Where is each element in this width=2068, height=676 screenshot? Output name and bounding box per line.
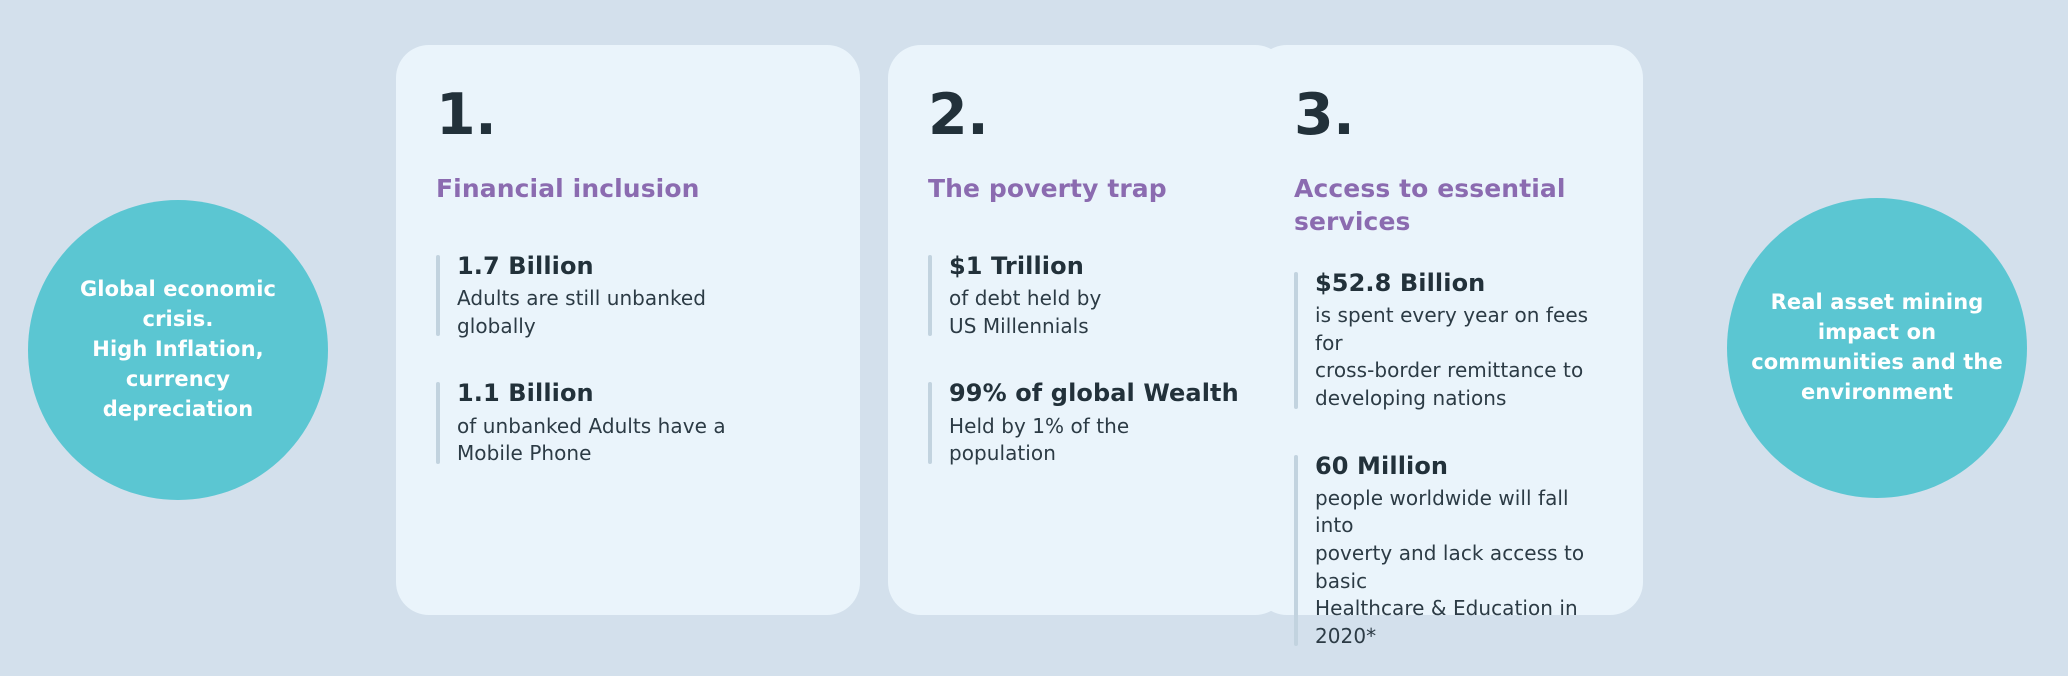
stat-item: $1 Trillion of debt held by US Millennia… — [928, 251, 1248, 340]
stat-description: Held by 1% of the population — [949, 413, 1248, 468]
stat-value: 60 Million — [1315, 451, 1603, 482]
card-1-number: 1. — [436, 87, 820, 144]
card-3-number: 3. — [1294, 87, 1603, 144]
stat-description: of unbanked Adults have a Mobile Phone — [457, 413, 820, 468]
card-financial-inclusion: 1. Financial inclusion 1.7 Billion Adult… — [396, 45, 860, 615]
stat-value: $52.8 Billion — [1315, 268, 1603, 299]
stat-item: 1.7 Billion Adults are still unbanked gl… — [436, 251, 820, 340]
stat-description: Adults are still unbanked globally — [457, 285, 820, 340]
stat-value: 99% of global Wealth — [949, 378, 1248, 409]
card-3-title: Access to essential services — [1294, 172, 1603, 238]
stat-value: 1.1 Billion — [457, 378, 820, 409]
stat-value: $1 Trillion — [949, 251, 1248, 282]
stat-value: 1.7 Billion — [457, 251, 820, 282]
card-2-number: 2. — [928, 87, 1248, 144]
stat-item: 99% of global Wealth Held by 1% of the p… — [928, 378, 1248, 467]
card-1-title: Financial inclusion — [436, 172, 820, 205]
stat-description: of debt held by US Millennials — [949, 285, 1248, 340]
infographic-canvas: Global economic crisis. High Inflation, … — [0, 0, 2068, 676]
stat-description: is spent every year on fees for cross-bo… — [1315, 302, 1603, 412]
card-access-to-essential-services: 3. Access to essential services $52.8 Bi… — [1254, 45, 1643, 615]
circle-left-text: Global economic crisis. High Inflation, … — [58, 275, 298, 424]
card-poverty-trap: 2. The poverty trap $1 Trillion of debt … — [888, 45, 1288, 615]
card-2-title: The poverty trap — [928, 172, 1248, 205]
stat-item: $52.8 Billion is spent every year on fee… — [1294, 268, 1603, 413]
stat-item: 1.1 Billion of unbanked Adults have a Mo… — [436, 378, 820, 467]
circle-right-text: Real asset mining impact on communities … — [1729, 288, 2025, 407]
stat-item: 60 Million people worldwide will fall in… — [1294, 451, 1603, 651]
circle-real-asset-mining-impact: Real asset mining impact on communities … — [1727, 198, 2027, 498]
circle-global-economic-crisis: Global economic crisis. High Inflation, … — [28, 200, 328, 500]
stat-description: people worldwide will fall into poverty … — [1315, 485, 1603, 651]
